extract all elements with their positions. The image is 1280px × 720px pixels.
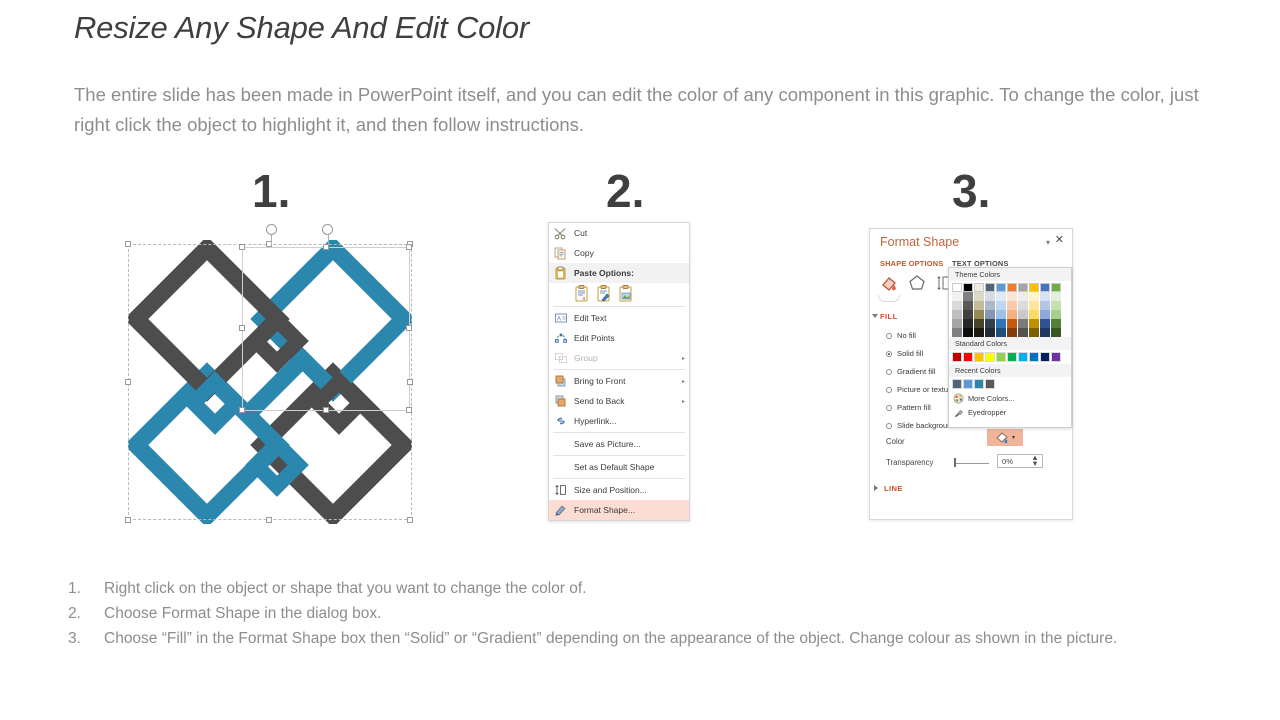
standard-swatch[interactable] [1029, 352, 1039, 362]
theme-swatch[interactable] [1040, 310, 1050, 319]
recent-swatch[interactable] [974, 379, 984, 389]
context-menu-separator [553, 306, 685, 307]
theme-swatch[interactable] [1029, 301, 1039, 310]
radio-gradient-fill[interactable]: Gradient fill [886, 367, 935, 376]
tab-shape-options[interactable]: SHAPE OPTIONS [880, 259, 943, 268]
standard-swatch[interactable] [1040, 352, 1050, 362]
theme-swatch[interactable] [1018, 283, 1028, 292]
recent-swatch[interactable] [985, 379, 995, 389]
fill-section-header[interactable]: FILL [880, 312, 898, 321]
context-menu-item-size-and-position[interactable]: Size and Position... [549, 480, 689, 500]
size-position-icon [553, 483, 569, 497]
radio-indicator [886, 351, 892, 357]
svg-text:A: A [557, 317, 561, 323]
context-menu-item-edit-points[interactable]: Edit Points [549, 328, 689, 348]
rotate-handle-inner[interactable] [322, 224, 333, 235]
theme-color-column-7[interactable] [1018, 283, 1028, 337]
radio-indicator [886, 387, 892, 393]
instruction-text: Right click on the object or shape that … [104, 576, 1280, 601]
context-menu-separator [553, 432, 685, 433]
theme-swatch[interactable] [996, 328, 1006, 337]
active-tool-underline [878, 295, 900, 302]
theme-colors-header: Theme Colors [949, 268, 1071, 281]
theme-swatch[interactable] [1018, 301, 1028, 310]
theme-swatch[interactable] [1051, 283, 1061, 292]
eyedropper-icon [953, 407, 964, 418]
context-menu-label: Group [574, 353, 679, 363]
theme-swatch[interactable] [985, 283, 995, 292]
theme-swatch[interactable] [952, 301, 962, 310]
context-menu-label: Save as Picture... [574, 439, 685, 449]
context-menu-label: Bring to Front [574, 376, 679, 386]
theme-swatch[interactable] [952, 310, 962, 319]
context-menu-item-group[interactable]: Group ▸ [549, 348, 689, 368]
theme-swatch[interactable] [1051, 319, 1061, 328]
radio-indicator [886, 369, 892, 375]
theme-swatch[interactable] [1040, 283, 1050, 292]
more-colors-label: More Colors... [968, 394, 1014, 403]
radio-label: Gradient fill [897, 367, 935, 376]
instruction-row: 3. Choose “Fill” in the Format Shape box… [68, 626, 1280, 651]
resize-handle-sw[interactable] [125, 517, 131, 523]
instruction-number: 1. [68, 576, 104, 601]
theme-color-column-5[interactable] [996, 283, 1006, 337]
standard-swatch[interactable] [952, 352, 962, 362]
theme-swatch[interactable] [963, 301, 973, 310]
theme-swatch[interactable] [996, 283, 1006, 292]
spinner-arrows-icon[interactable]: ▲▼ [1020, 455, 1042, 467]
theme-swatch[interactable] [1029, 319, 1039, 328]
theme-color-column-9[interactable] [1040, 283, 1050, 337]
line-section-header[interactable]: LINE [884, 484, 903, 493]
format-shape-icon [553, 503, 569, 517]
inner-resize-handle-ne[interactable] [406, 244, 412, 250]
transparency-slider-track[interactable] [955, 463, 989, 464]
step-number-1: 1. [252, 168, 290, 214]
instruction-text: Choose “Fill” in the Format Shape box th… [104, 626, 1280, 651]
standard-swatch[interactable] [1007, 352, 1017, 362]
send-back-icon [553, 394, 569, 408]
theme-swatch[interactable] [1029, 328, 1039, 337]
resize-handle-nw[interactable] [125, 241, 131, 247]
transparency-spinner[interactable]: 0% ▲▼ [997, 454, 1043, 468]
context-menu-item-set-as-default-shape[interactable]: Set as Default Shape [549, 457, 689, 477]
context-menu-item-bring-to-front[interactable]: Bring to Front ▸ [549, 371, 689, 391]
context-menu-label: Copy [574, 248, 685, 258]
standard-swatch[interactable] [963, 352, 973, 362]
context-menu[interactable]: Cut Copy Paste Options: a [548, 222, 690, 521]
theme-swatch[interactable] [1018, 292, 1028, 301]
inner-resize-handle-nw[interactable] [239, 244, 245, 250]
bring-front-icon [553, 374, 569, 388]
instruction-row: 2. Choose Format Shape in the dialog box… [68, 601, 1280, 626]
fill-bucket-icon[interactable] [880, 273, 900, 293]
effects-pentagon-icon[interactable] [907, 273, 927, 293]
theme-swatch[interactable] [1029, 310, 1039, 319]
chevron-down-icon[interactable]: ▾ [1012, 434, 1015, 441]
theme-swatch[interactable] [985, 292, 995, 301]
theme-swatch[interactable] [1040, 319, 1050, 328]
fill-color-button[interactable]: ▾ [987, 429, 1023, 446]
theme-swatch[interactable] [1040, 301, 1050, 310]
selection-bounding-box-inner[interactable] [242, 247, 410, 411]
radio-pattern-fill[interactable]: Pattern fill [886, 403, 931, 412]
context-menu-item-edit-text[interactable]: A Edit Text [549, 308, 689, 328]
context-menu-separator [553, 369, 685, 370]
theme-swatch[interactable] [996, 292, 1006, 301]
context-menu-item-save-as-picture[interactable]: Save as Picture... [549, 434, 689, 454]
resize-handle-se[interactable] [407, 517, 413, 523]
theme-swatch[interactable] [952, 283, 962, 292]
standard-swatch[interactable] [985, 352, 995, 362]
scissors-icon [553, 226, 569, 240]
theme-swatch[interactable] [1018, 310, 1028, 319]
standard-swatch[interactable] [1018, 352, 1028, 362]
submenu-arrow-icon: ▸ [679, 355, 685, 362]
context-menu-label: Edit Text [574, 313, 685, 323]
theme-swatch[interactable] [996, 319, 1006, 328]
intro-paragraph: The entire slide has been made in PowerP… [74, 80, 1214, 140]
radio-indicator [886, 405, 892, 411]
blank-icon [553, 437, 569, 451]
standard-swatch[interactable] [1051, 352, 1061, 362]
inner-resize-handle-w[interactable] [239, 325, 245, 331]
more-colors-item[interactable]: More Colors... [949, 391, 1071, 405]
context-menu-item-cut[interactable]: Cut [549, 223, 689, 243]
recent-colors-row[interactable] [949, 377, 1071, 391]
instruction-number: 3. [68, 626, 104, 651]
eyedropper-label: Eyedropper [968, 408, 1006, 417]
context-menu-label: Hyperlink... [574, 416, 685, 426]
color-picker-flyout[interactable]: Theme Colors Standard Colors Recent Colo… [948, 267, 1072, 428]
theme-swatch[interactable] [1007, 328, 1017, 337]
step-number-2: 2. [606, 168, 644, 214]
theme-swatch[interactable] [974, 301, 984, 310]
clipboard-icon [553, 266, 569, 280]
eyedropper-item[interactable]: Eyedropper [949, 405, 1071, 419]
instruction-number: 2. [68, 601, 104, 626]
page-title: Resize Any Shape And Edit Color [74, 10, 529, 46]
theme-swatch[interactable] [1007, 310, 1017, 319]
copy-icon [553, 246, 569, 260]
context-menu-label: Set as Default Shape [574, 462, 685, 472]
collapse-triangle-icon[interactable] [874, 485, 878, 491]
theme-swatch[interactable] [1018, 328, 1028, 337]
theme-swatch[interactable] [952, 319, 962, 328]
theme-swatch[interactable] [952, 328, 962, 337]
theme-swatch[interactable] [1007, 292, 1017, 301]
expand-triangle-icon[interactable] [872, 314, 878, 318]
paste-merge-formatting-icon[interactable] [596, 285, 611, 304]
paste-picture-icon[interactable] [618, 285, 633, 304]
rotate-handle-outer[interactable] [266, 224, 277, 235]
context-menu-label: Size and Position... [574, 485, 685, 495]
step-number-3: 3. [952, 168, 990, 214]
context-menu-separator [553, 478, 685, 479]
theme-swatch[interactable] [963, 283, 973, 292]
theme-swatch[interactable] [974, 310, 984, 319]
theme-color-column-6[interactable] [1007, 283, 1017, 337]
context-menu-item-copy[interactable]: Copy [549, 243, 689, 263]
theme-color-column-8[interactable] [1029, 283, 1039, 337]
context-menu-label: Paste Options: [574, 268, 685, 278]
theme-swatch[interactable] [1040, 328, 1050, 337]
instructions-list: 1. Right click on the object or shape th… [68, 576, 1280, 651]
group-icon [553, 351, 569, 365]
context-menu-item-send-to-back[interactable]: Send to Back ▸ [549, 391, 689, 411]
context-menu-separator [553, 455, 685, 456]
standard-swatch[interactable] [974, 352, 984, 362]
instruction-text: Choose Format Shape in the dialog box. [104, 601, 1280, 626]
edit-points-icon [553, 331, 569, 345]
context-menu-item-hyperlink[interactable]: Hyperlink... [549, 411, 689, 431]
blank-icon [553, 460, 569, 474]
radio-indicator [886, 423, 892, 429]
svg-text:a: a [583, 296, 586, 302]
recent-swatch[interactable] [952, 379, 962, 389]
fill-color-icon [995, 431, 1010, 444]
radio-indicator [886, 333, 892, 339]
close-icon[interactable]: ✕ [1055, 235, 1064, 246]
theme-swatch[interactable] [1029, 292, 1039, 301]
theme-swatch[interactable] [963, 310, 973, 319]
theme-swatch[interactable] [974, 328, 984, 337]
theme-swatch[interactable] [985, 328, 995, 337]
theme-swatch[interactable] [1051, 292, 1061, 301]
radio-solid-fill[interactable]: Solid fill [886, 349, 923, 358]
resize-handle-s[interactable] [266, 517, 272, 523]
context-menu-label: Edit Points [574, 333, 685, 343]
inner-resize-handle-sw[interactable] [239, 407, 245, 413]
radio-no-fill[interactable]: No fill [886, 331, 916, 340]
context-menu-item-format-shape[interactable]: Format Shape... [549, 500, 689, 520]
theme-color-column-3[interactable] [974, 283, 984, 337]
context-menu-label: Cut [574, 228, 685, 238]
inner-resize-handle-s[interactable] [323, 407, 329, 413]
rotate-stem-outer [271, 234, 272, 245]
resize-handle-w[interactable] [125, 379, 131, 385]
hyperlink-icon [553, 414, 569, 428]
context-menu-label: Send to Back [574, 396, 679, 406]
theme-color-column-10[interactable] [1051, 283, 1061, 337]
transparency-value: 0% [998, 457, 1020, 466]
theme-color-column-1[interactable] [952, 283, 962, 337]
slide-canvas: Resize Any Shape And Edit Color The enti… [0, 0, 1280, 720]
theme-swatch[interactable] [996, 310, 1006, 319]
theme-swatch[interactable] [1029, 283, 1039, 292]
theme-swatch[interactable] [1051, 328, 1061, 337]
theme-swatch[interactable] [985, 310, 995, 319]
standard-swatch[interactable] [996, 352, 1006, 362]
theme-swatch[interactable] [1018, 319, 1028, 328]
theme-swatch[interactable] [1040, 292, 1050, 301]
transparency-label: Transparency [886, 458, 933, 467]
theme-color-column-4[interactable] [985, 283, 995, 337]
radio-label: No fill [897, 331, 916, 340]
theme-swatch[interactable] [1007, 319, 1017, 328]
format-pane-title: Format Shape [880, 235, 959, 249]
resize-handle-e[interactable] [407, 379, 413, 385]
theme-color-column-2[interactable] [963, 283, 973, 337]
palette-icon [953, 393, 964, 404]
instruction-row: 1. Right click on the object or shape th… [68, 576, 1280, 601]
theme-swatch[interactable] [1051, 310, 1061, 319]
chevron-down-icon[interactable]: ▾ [1046, 238, 1050, 247]
recent-swatch[interactable] [963, 379, 973, 389]
theme-colors-grid[interactable] [949, 281, 1071, 337]
theme-swatch[interactable] [963, 319, 973, 328]
theme-swatch[interactable] [1051, 301, 1061, 310]
theme-swatch[interactable] [985, 319, 995, 328]
theme-swatch[interactable] [963, 292, 973, 301]
radio-label: Pattern fill [897, 403, 931, 412]
theme-swatch[interactable] [974, 319, 984, 328]
theme-swatch[interactable] [996, 301, 1006, 310]
rotate-stem-inner [328, 234, 329, 245]
paste-keep-source-formatting-icon[interactable]: a [574, 285, 589, 304]
theme-swatch[interactable] [1007, 301, 1017, 310]
inner-resize-handle-se[interactable] [406, 407, 412, 413]
context-menu-item-paste-options[interactable]: Paste Options: [549, 263, 689, 283]
transparency-slider-knob[interactable] [954, 458, 956, 467]
radio-label: Solid fill [897, 349, 923, 358]
submenu-arrow-icon: ▸ [679, 398, 685, 405]
paste-options-row[interactable]: a [549, 283, 689, 305]
inner-resize-handle-e[interactable] [406, 325, 412, 331]
context-menu-label: Format Shape... [574, 505, 685, 515]
theme-swatch[interactable] [952, 292, 962, 301]
theme-swatch[interactable] [974, 283, 984, 292]
theme-swatch[interactable] [974, 292, 984, 301]
color-label: Color [886, 437, 905, 446]
standard-colors-header: Standard Colors [949, 337, 1071, 350]
edit-text-icon: A [553, 311, 569, 325]
theme-swatch[interactable] [1007, 283, 1017, 292]
theme-swatch[interactable] [963, 328, 973, 337]
theme-swatch[interactable] [985, 301, 995, 310]
submenu-arrow-icon: ▸ [679, 378, 685, 385]
recent-colors-header: Recent Colors [949, 364, 1071, 377]
standard-colors-row[interactable] [949, 350, 1071, 364]
